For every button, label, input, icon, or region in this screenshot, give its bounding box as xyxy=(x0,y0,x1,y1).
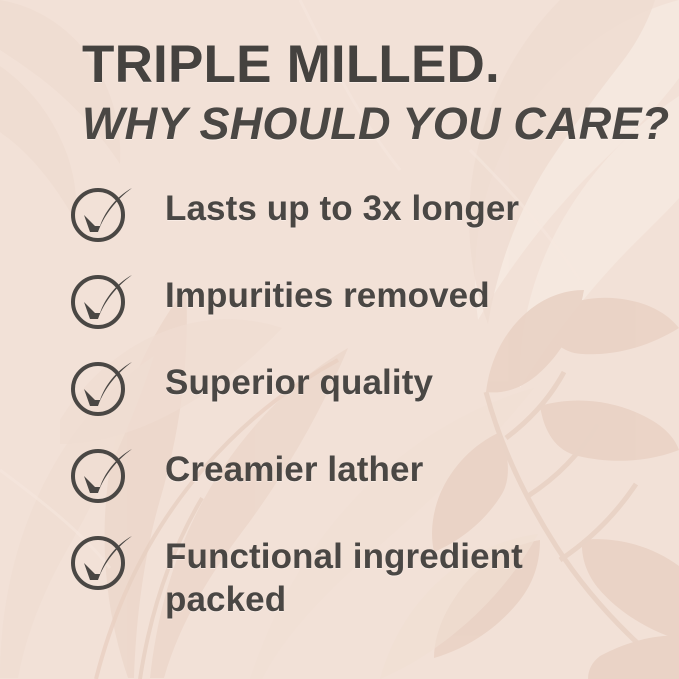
heading-block: TRIPLE MILLED. WHY SHOULD YOU CARE? xyxy=(82,38,642,147)
list-item: Lasts up to 3x longer xyxy=(70,186,670,273)
check-circle-icon xyxy=(70,532,136,592)
benefit-label: Superior quality xyxy=(165,362,433,405)
benefit-label: Impurities removed xyxy=(165,275,490,318)
benefit-list: Lasts up to 3x longer Impurities removed xyxy=(70,186,670,621)
list-item: Impurities removed xyxy=(70,273,670,360)
list-item: Creamier lather xyxy=(70,447,670,534)
check-circle-icon xyxy=(70,184,136,244)
page-subtitle: WHY SHOULD YOU CARE? xyxy=(82,101,642,147)
poster-canvas: TRIPLE MILLED. WHY SHOULD YOU CARE? Last… xyxy=(0,0,679,679)
benefit-label: Functional ingredient packed xyxy=(165,536,585,621)
benefit-label: Creamier lather xyxy=(165,449,423,492)
check-circle-icon xyxy=(70,445,136,505)
check-circle-icon xyxy=(70,358,136,418)
list-item: Functional ingredient packed xyxy=(70,534,670,621)
page-title: TRIPLE MILLED. xyxy=(82,38,642,92)
list-item: Superior quality xyxy=(70,360,670,447)
check-circle-icon xyxy=(70,271,136,331)
poster-content: TRIPLE MILLED. WHY SHOULD YOU CARE? Last… xyxy=(0,0,679,679)
benefit-label: Lasts up to 3x longer xyxy=(165,188,519,231)
